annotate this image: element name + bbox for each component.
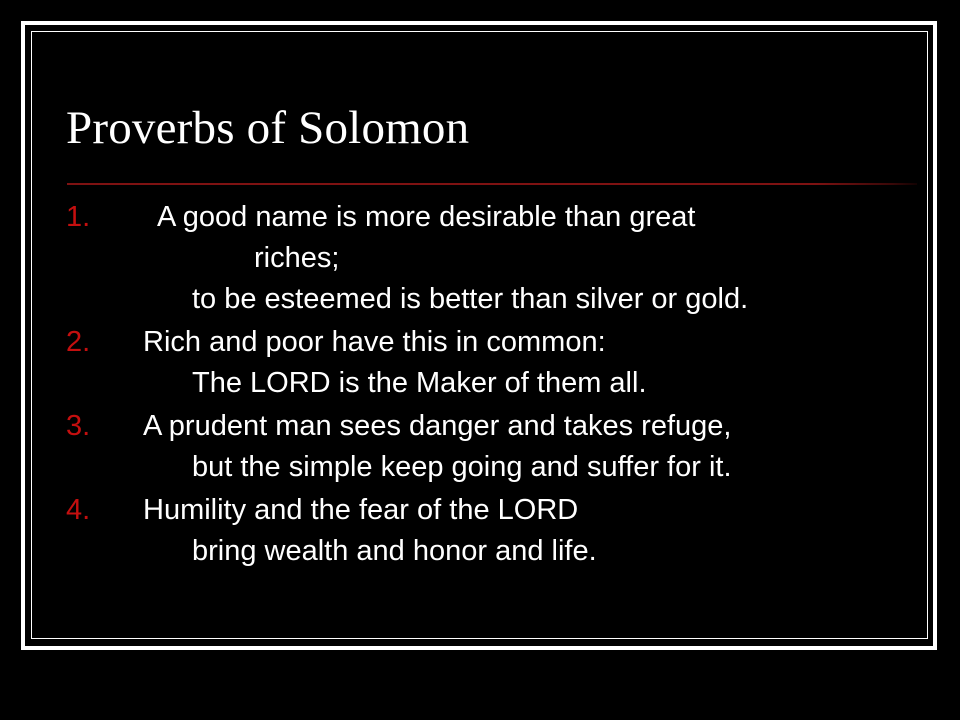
list-item-line: to be esteemed is better than silver or …: [192, 279, 960, 320]
slide-content: Proverbs of Solomon 1. A good name is mo…: [0, 0, 960, 720]
list-item-number: 4.: [66, 490, 112, 531]
list-item: 1. A good name is more desirable than gr…: [0, 197, 960, 322]
list-item: 2. Rich and poor have this in common: Th…: [0, 322, 960, 406]
list-item: 4. Humility and the fear of the LORD bri…: [0, 490, 960, 574]
list-item-line: bring wealth and honor and life.: [192, 531, 960, 572]
list-item-number: 2.: [66, 322, 112, 363]
list-item-text: A good name is more desirable than great…: [0, 197, 960, 320]
list-item-number: 1.: [66, 197, 112, 238]
list-item-line: A prudent man sees danger and takes refu…: [143, 406, 960, 447]
page-title: Proverbs of Solomon: [66, 100, 926, 156]
list-item-line: but the simple keep going and suffer for…: [192, 447, 960, 488]
list-item: 3. A prudent man sees danger and takes r…: [0, 406, 960, 490]
list-item-line: Humility and the fear of the LORD: [143, 490, 960, 531]
list-item-line: The LORD is the Maker of them all.: [192, 363, 960, 404]
list-item-text: Rich and poor have this in common: The L…: [0, 322, 960, 404]
list-item-line: A good name is more desirable than great: [157, 197, 960, 238]
numbered-proverbs-list: 1. A good name is more desirable than gr…: [0, 197, 960, 574]
title-divider: [67, 183, 917, 185]
list-item-line: riches;: [254, 238, 960, 279]
slide-canvas: Proverbs of Solomon 1. A good name is mo…: [0, 0, 960, 720]
list-item-text: Humility and the fear of the LORD bring …: [0, 490, 960, 572]
list-item-text: A prudent man sees danger and takes refu…: [0, 406, 960, 488]
list-item-line: Rich and poor have this in common:: [143, 322, 960, 363]
list-item-number: 3.: [66, 406, 112, 447]
